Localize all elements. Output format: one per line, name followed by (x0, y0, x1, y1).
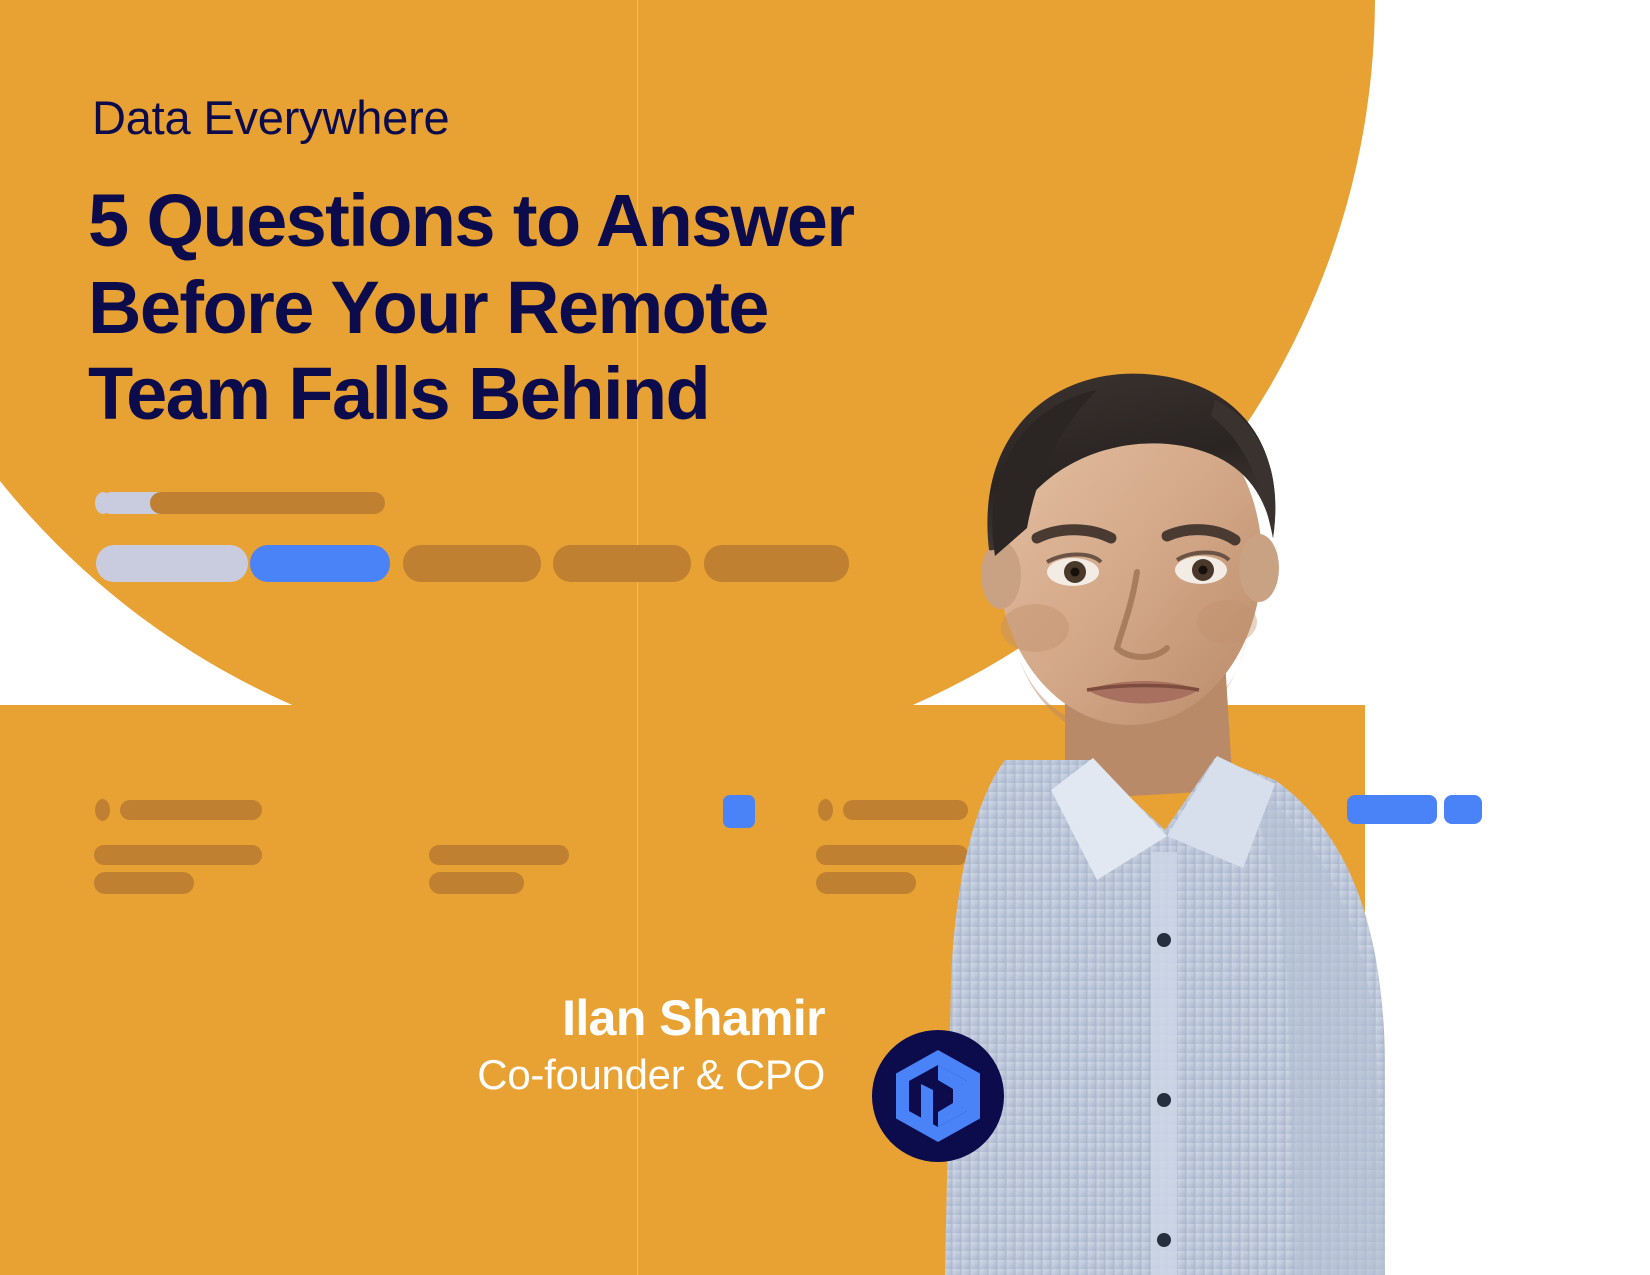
skeleton-line-tan (150, 492, 385, 514)
skeleton-row-center-1 (429, 845, 569, 865)
skeleton-row-left-1 (120, 800, 262, 820)
skeleton-row-left-2 (94, 845, 262, 865)
chip-tan-1[interactable] (403, 545, 541, 582)
hexagon-monogram-icon (888, 1046, 988, 1146)
speaker-portrait (915, 360, 1535, 1275)
speaker-name: Ilan Shamir (0, 990, 825, 1046)
speaker-credit: Ilan Shamir Co-founder & CPO (0, 990, 825, 1100)
accent-blue-square[interactable] (723, 795, 755, 828)
speaker-role: Co-founder & CPO (0, 1050, 825, 1100)
skeleton-row-center-2 (429, 872, 524, 894)
skeleton-row-right-3 (816, 872, 916, 894)
presentation-slide: Data Everywhere 5 Questions to Answer Be… (0, 0, 1650, 1275)
company-logo[interactable] (872, 1030, 1004, 1162)
chip-blue-active[interactable] (250, 545, 390, 582)
slide-title-line-2: Before Your Remote (88, 265, 1068, 352)
chip-tan-3[interactable] (704, 545, 849, 582)
slide-title-line-1: 5 Questions to Answer (88, 178, 1068, 265)
chip-lavender[interactable] (96, 545, 248, 582)
skeleton-bullet-right (818, 799, 833, 821)
skeleton-row-left-3 (94, 872, 194, 894)
skeleton-bullet-left (95, 799, 110, 821)
slide-kicker: Data Everywhere (92, 92, 450, 144)
chip-tan-2[interactable] (553, 545, 691, 582)
